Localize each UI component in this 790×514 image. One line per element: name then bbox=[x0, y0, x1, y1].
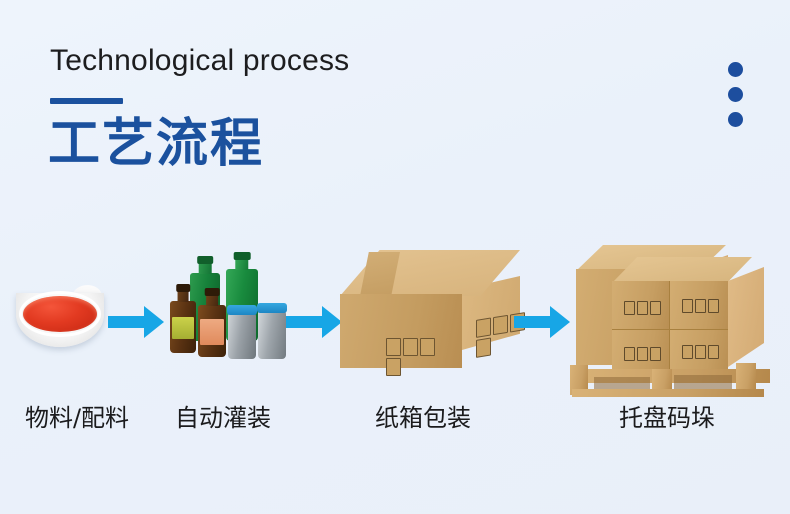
shipping-symbols bbox=[682, 345, 719, 359]
this-way-up-icon bbox=[493, 315, 508, 335]
bowl-rim bbox=[19, 291, 101, 337]
fragile-glass-icon bbox=[386, 338, 401, 356]
arrow-right-icon-3 bbox=[514, 305, 570, 339]
palletized-boxes-icon bbox=[568, 229, 778, 384]
shipping-symbols-front bbox=[386, 338, 435, 376]
pallet-front-side bbox=[728, 267, 764, 367]
step-labels: 物料/配料 自动灌装 纸箱包装 托盘码垛 bbox=[0, 398, 790, 438]
step-label-filling: 自动灌装 bbox=[175, 398, 271, 433]
arrow-right-icon-2 bbox=[286, 305, 342, 339]
step-label-material: 物料/配料 bbox=[25, 398, 129, 433]
handle-care-icon bbox=[386, 358, 401, 376]
this-way-up-icon bbox=[708, 299, 719, 313]
this-way-up-icon bbox=[650, 301, 661, 315]
bowl-of-red-liquid-icon bbox=[16, 285, 104, 349]
this-way-up-icon bbox=[403, 338, 418, 356]
title-divider-bar bbox=[50, 98, 123, 104]
umbrella-icon bbox=[695, 299, 706, 313]
this-way-up-icon bbox=[708, 345, 719, 359]
umbrella-icon bbox=[695, 345, 706, 359]
shipping-symbols bbox=[624, 301, 661, 315]
umbrella-icon bbox=[637, 347, 648, 361]
dot-1 bbox=[728, 62, 743, 77]
umbrella-icon bbox=[420, 338, 435, 356]
shipping-symbols bbox=[624, 347, 661, 361]
step-label-packaging: 纸箱包装 bbox=[375, 398, 471, 433]
page-title-english: Technological process bbox=[50, 44, 349, 78]
fragile-glass-icon bbox=[682, 345, 693, 359]
dot-3 bbox=[728, 112, 743, 127]
dot-2 bbox=[728, 87, 743, 102]
silver-jar-2 bbox=[258, 311, 286, 359]
pallet-bottom-rail bbox=[572, 389, 764, 397]
umbrella-icon bbox=[637, 301, 648, 315]
flow-illustrations bbox=[0, 215, 790, 390]
shipping-symbols bbox=[682, 299, 719, 313]
three-dots-icon[interactable] bbox=[728, 62, 743, 137]
fragile-glass-icon bbox=[624, 347, 635, 361]
step-label-palletize: 托盘码垛 bbox=[619, 398, 715, 433]
bottles-group-icon bbox=[168, 259, 280, 359]
process-flow-banner: Technological process 工艺流程 bbox=[0, 0, 790, 514]
pallet-block-right bbox=[736, 363, 756, 391]
silver-jar-1 bbox=[228, 313, 256, 359]
this-way-up-icon bbox=[650, 347, 661, 361]
page-title-chinese: 工艺流程 bbox=[48, 118, 264, 170]
amber-bottle-1 bbox=[170, 301, 196, 353]
arrow-right-icon-1 bbox=[108, 305, 164, 339]
handle-care-icon bbox=[476, 338, 491, 358]
fragile-glass-icon bbox=[476, 318, 491, 338]
amber-bottle-2 bbox=[198, 305, 226, 357]
fragile-glass-icon bbox=[624, 301, 635, 315]
fragile-glass-icon bbox=[682, 299, 693, 313]
cardboard-carton-icon bbox=[340, 250, 520, 375]
